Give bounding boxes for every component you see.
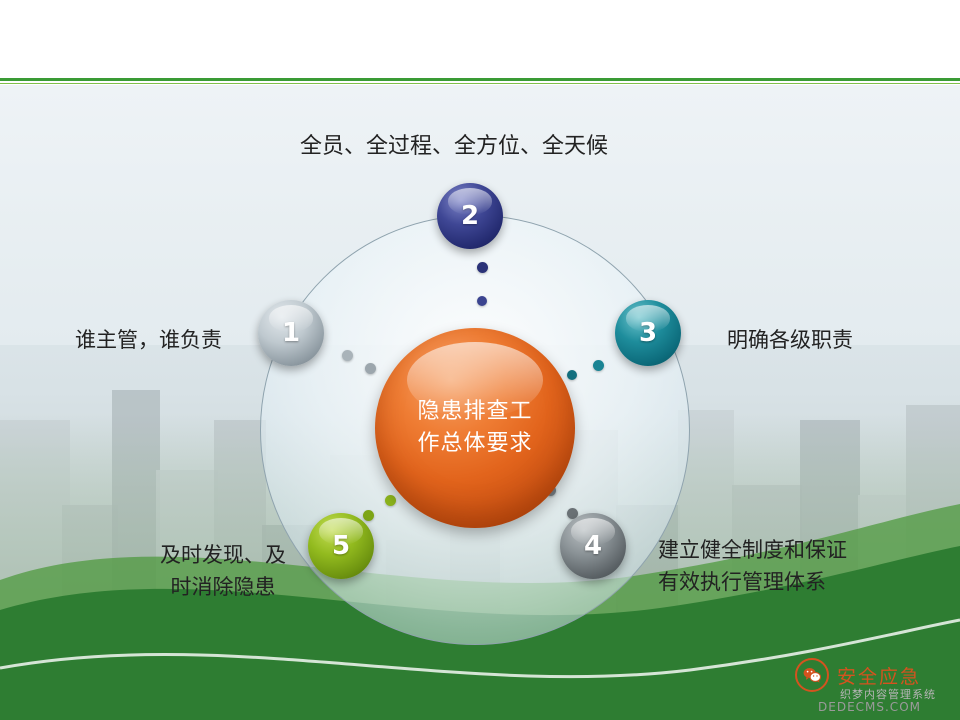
label-bottom-right: 建立健全制度和保证 有效执行管理体系 [658,535,847,598]
node-gloss [319,518,364,544]
node-gloss [626,305,671,331]
connector-dot [365,363,376,374]
connector-dot [363,510,374,521]
watermark-brand: 安全应急 [837,662,921,689]
node-3[interactable]: 3 [615,300,681,366]
center-text-line-1: 隐患排查工 [417,396,532,428]
connector-dot [342,350,353,361]
label-left: 谁主管，谁负责 [75,325,222,357]
connector-dot [477,296,487,306]
node-5[interactable]: 5 [308,513,374,579]
headline-text: 全员、全过程、全方位、全天候 [300,130,608,163]
label-bottom-left: 及时发现、及 时消除隐患 [160,540,286,603]
slide-canvas: 全员、全过程、全方位、全天候 1 2 3 4 5 隐患排查工 作总体要求 谁主管… [0,0,960,720]
label-right: 明确各级职责 [727,325,853,357]
node-gloss [448,188,493,214]
wechat-icon [795,658,829,692]
node-2[interactable]: 2 [437,183,503,249]
connector-dot [477,262,488,273]
node-1[interactable]: 1 [258,300,324,366]
connector-dot [593,360,604,371]
connector-dot [385,495,396,506]
center-text-line-2: 作总体要求 [417,428,532,460]
node-4[interactable]: 4 [560,513,626,579]
connector-dot [567,370,577,380]
wechat-glyph [803,667,821,683]
top-divider-rule [0,78,960,81]
top-divider-rule-thin [0,83,960,84]
watermark-site: DEDECMS.COM [818,700,921,714]
center-sphere: 隐患排查工 作总体要求 [375,328,575,528]
node-gloss [269,305,314,331]
node-gloss [571,518,616,544]
